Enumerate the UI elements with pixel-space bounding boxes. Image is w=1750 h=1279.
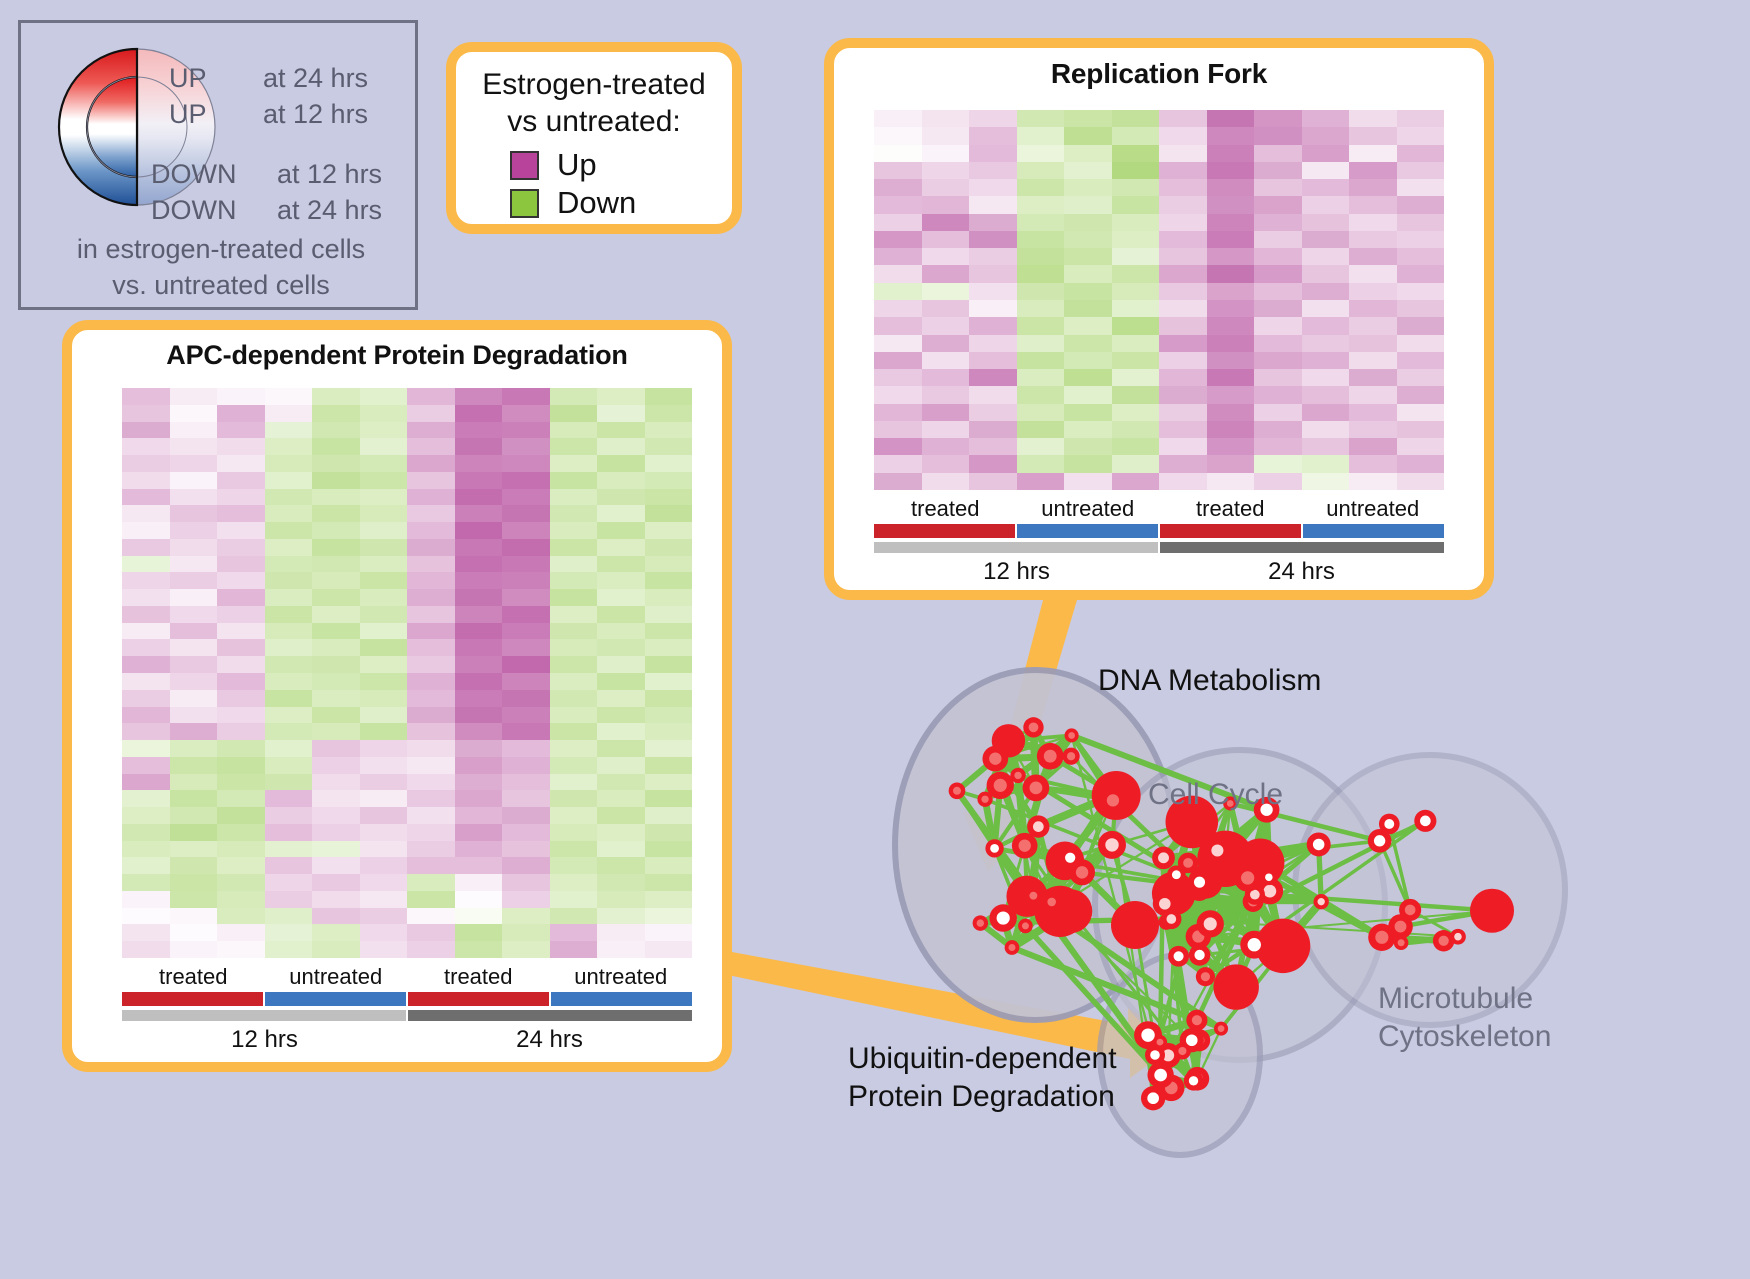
network-node[interactable] <box>989 904 1016 931</box>
time-bar-segment <box>408 1010 692 1021</box>
replication-fork-title: Replication Fork <box>834 58 1484 90</box>
heatmap-cell <box>312 673 360 690</box>
heatmap-cell <box>502 472 550 489</box>
heatmap-cell <box>1017 110 1065 127</box>
heatmap-cell <box>265 707 313 724</box>
heatmap-cell <box>502 623 550 640</box>
heatmap-cell <box>1302 455 1350 472</box>
heatmap-cell <box>645 891 693 908</box>
heatmap-cell <box>645 489 693 506</box>
network-node[interactable] <box>1213 964 1258 1009</box>
heatmap-cell <box>1254 231 1302 248</box>
network-node[interactable] <box>973 915 988 930</box>
heatmap-cell <box>874 473 922 490</box>
heatmap-cell <box>122 656 170 673</box>
heatmap-cell <box>550 673 598 690</box>
heatmap-cell <box>502 807 550 824</box>
heatmap-cell <box>969 110 1017 127</box>
heatmap-cell <box>597 623 645 640</box>
heatmap-cell <box>217 556 265 573</box>
replication-fork-time-labels: 12 hrs24 hrs <box>874 558 1444 586</box>
network-node[interactable] <box>1037 743 1064 770</box>
heatmap-cell <box>874 110 922 127</box>
heatmap-cell <box>170 740 218 757</box>
heatmap-cell <box>122 924 170 941</box>
heatmap-cell <box>1302 386 1350 403</box>
network-node[interactable] <box>1196 967 1215 986</box>
heatmap-cell <box>1302 369 1350 386</box>
network-node[interactable] <box>1005 940 1020 955</box>
heatmap-cell <box>122 422 170 439</box>
heatmap-cell <box>1397 386 1445 403</box>
heatmap-cell <box>969 162 1017 179</box>
time-bar-segment <box>874 542 1160 553</box>
heatmap-cell <box>645 707 693 724</box>
heatmap-cell <box>217 438 265 455</box>
heatmap-cell <box>360 908 408 925</box>
network-node[interactable] <box>1023 775 1050 802</box>
apc-degradation-heatmap <box>122 388 692 958</box>
heatmap-cell <box>1302 473 1350 490</box>
heatmap-cell <box>1349 369 1397 386</box>
heatmap-cell <box>455 891 503 908</box>
heatmap-cell <box>1397 265 1445 282</box>
heatmap-cell <box>1254 317 1302 334</box>
heatmap-cell <box>312 522 360 539</box>
heatmap-cell <box>455 472 503 489</box>
heatmap-cell <box>407 556 455 573</box>
heatmap-cell <box>170 405 218 422</box>
network-node[interactable] <box>1027 815 1049 837</box>
heatmap-cell <box>1159 214 1207 231</box>
heatmap-cell <box>922 110 970 127</box>
heatmap-cell <box>1064 438 1112 455</box>
heatmap-cell <box>1207 110 1255 127</box>
heatmap-cell <box>597 639 645 656</box>
heatmap-cell <box>1254 196 1302 213</box>
heatmap-cell <box>1397 438 1445 455</box>
heatmap-cell <box>1302 438 1350 455</box>
colorwheel-row-label-0: UP <box>169 63 207 94</box>
heatmap-cell <box>407 572 455 589</box>
heatmap-cell <box>217 472 265 489</box>
heatmap-cell <box>407 489 455 506</box>
heatmap-cell <box>597 589 645 606</box>
network-node[interactable] <box>1043 893 1061 911</box>
heatmap-cell <box>550 656 598 673</box>
network-node[interactable] <box>1470 889 1514 933</box>
heatmap-cell <box>217 572 265 589</box>
heatmap-cell <box>597 757 645 774</box>
heatmap-cell <box>502 673 550 690</box>
heatmap-cell <box>407 757 455 774</box>
network-node[interactable] <box>1307 832 1331 856</box>
heatmap-cell <box>122 941 170 958</box>
time-label: 24 hrs <box>407 1026 692 1054</box>
network-node[interactable] <box>1240 931 1268 959</box>
network-node[interactable] <box>1062 748 1079 765</box>
heatmap-cell <box>407 405 455 422</box>
heatmap-cell <box>1112 300 1160 317</box>
heatmap-cell <box>312 489 360 506</box>
heatmap-cell <box>1159 265 1207 282</box>
network-node[interactable] <box>1261 869 1277 885</box>
network-node[interactable] <box>1178 853 1198 873</box>
heatmap-cell <box>597 472 645 489</box>
heatmap-cell <box>645 656 693 673</box>
heatmap-cell <box>265 388 313 405</box>
heatmap-cell <box>217 589 265 606</box>
updown-legend-panel: Estrogen-treated vs untreated: Up Down <box>446 42 742 234</box>
heatmap-cell <box>360 522 408 539</box>
heatmap-cell <box>407 707 455 724</box>
heatmap-cell <box>969 335 1017 352</box>
heatmap-cell <box>217 405 265 422</box>
heatmap-cell <box>265 690 313 707</box>
heatmap-cell <box>645 539 693 556</box>
heatmap-cell <box>170 874 218 891</box>
heatmap-cell <box>170 824 218 841</box>
heatmap-cell <box>969 352 1017 369</box>
heatmap-cell <box>217 455 265 472</box>
replication-fork-heatmap <box>874 110 1444 490</box>
network-node[interactable] <box>1010 768 1025 783</box>
network-node[interactable] <box>1065 728 1079 742</box>
heatmap-cell <box>455 422 503 439</box>
heatmap-cell <box>874 335 922 352</box>
heatmap-cell <box>1302 248 1350 265</box>
heatmap-cell <box>360 807 408 824</box>
network-node[interactable] <box>1034 886 1085 937</box>
heatmap-cell <box>922 162 970 179</box>
heatmap-cell <box>1254 110 1302 127</box>
heatmap-cell <box>1112 145 1160 162</box>
heatmap-cell <box>1254 145 1302 162</box>
heatmap-cell <box>312 422 360 439</box>
heatmap-cell <box>1159 438 1207 455</box>
time-label: 24 hrs <box>1159 558 1444 586</box>
heatmap-cell <box>360 824 408 841</box>
network-node[interactable] <box>1314 894 1329 909</box>
heatmap-cell <box>1349 335 1397 352</box>
heatmap-cell <box>1159 335 1207 352</box>
heatmap-cell <box>1302 352 1350 369</box>
network-node[interactable] <box>1394 935 1409 950</box>
heatmap-cell <box>360 774 408 791</box>
heatmap-cell <box>1349 248 1397 265</box>
network-node[interactable] <box>1152 846 1175 869</box>
heatmap-cell <box>360 505 408 522</box>
network-node[interactable] <box>1379 814 1400 835</box>
heatmap-cell <box>1397 455 1445 472</box>
replication-fork-condition-bar <box>874 524 1444 538</box>
network-node[interactable] <box>1188 871 1211 894</box>
heatmap-cell <box>170 924 218 941</box>
heatmap-cell <box>455 539 503 556</box>
heatmap-cell <box>550 841 598 858</box>
network-node[interactable] <box>1161 909 1181 929</box>
heatmap-cell <box>597 489 645 506</box>
network-node[interactable] <box>1186 1010 1207 1031</box>
heatmap-cell <box>455 690 503 707</box>
replication-fork-panel: Replication Fork treateduntreatedtreated… <box>824 38 1494 600</box>
heatmap-cell <box>265 522 313 539</box>
heatmap-cell <box>170 841 218 858</box>
updown-legend-title-line1: Estrogen-treated <box>456 66 732 103</box>
heatmap-cell <box>455 874 503 891</box>
heatmap-cell <box>502 824 550 841</box>
network-node[interactable] <box>1111 901 1159 949</box>
heatmap-cell <box>922 386 970 403</box>
network-node[interactable] <box>1147 1062 1173 1088</box>
heatmap-cell <box>550 757 598 774</box>
heatmap-cell <box>455 941 503 958</box>
network-node[interactable] <box>1205 838 1230 863</box>
heatmap-cell <box>1254 386 1302 403</box>
heatmap-cell <box>550 455 598 472</box>
heatmap-cell <box>1017 127 1065 144</box>
heatmap-cell <box>1207 473 1255 490</box>
heatmap-cell <box>170 489 218 506</box>
network-node[interactable] <box>1100 788 1126 814</box>
heatmap-cell <box>645 589 693 606</box>
heatmap-cell <box>502 388 550 405</box>
heatmap-cell <box>645 790 693 807</box>
heatmap-cell <box>217 790 265 807</box>
heatmap-cell <box>502 539 550 556</box>
heatmap-cell <box>360 924 408 941</box>
heatmap-cell <box>1159 196 1207 213</box>
heatmap-cell <box>597 707 645 724</box>
heatmap-cell <box>1254 283 1302 300</box>
heatmap-cell <box>360 790 408 807</box>
heatmap-cell <box>645 388 693 405</box>
heatmap-cell <box>1207 369 1255 386</box>
heatmap-cell <box>969 248 1017 265</box>
heatmap-cell <box>645 690 693 707</box>
heatmap-cell <box>407 438 455 455</box>
heatmap-cell <box>874 231 922 248</box>
network-node[interactable] <box>1414 810 1436 832</box>
heatmap-cell <box>1302 127 1350 144</box>
network-node[interactable] <box>1145 1045 1165 1065</box>
heatmap-cell <box>550 857 598 874</box>
heatmap-cell <box>265 539 313 556</box>
heatmap-cell <box>1064 265 1112 282</box>
network-node[interactable] <box>1168 946 1189 967</box>
heatmap-cell <box>597 388 645 405</box>
heatmap-cell <box>1254 404 1302 421</box>
heatmap-cell <box>1112 265 1160 282</box>
condition-bar-segment <box>1160 524 1303 538</box>
heatmap-cell <box>122 472 170 489</box>
heatmap-cell <box>969 386 1017 403</box>
heatmap-cell <box>360 388 408 405</box>
heatmap-cell <box>265 891 313 908</box>
heatmap-cell <box>1207 335 1255 352</box>
heatmap-cell <box>1064 179 1112 196</box>
heatmap-cell <box>407 539 455 556</box>
heatmap-cell <box>550 723 598 740</box>
heatmap-cell <box>312 774 360 791</box>
network-node[interactable] <box>985 839 1003 857</box>
condition-label: untreated <box>1302 496 1445 522</box>
heatmap-cell <box>597 422 645 439</box>
heatmap-cell <box>969 283 1017 300</box>
heatmap-cell <box>1397 162 1445 179</box>
heatmap-cell <box>1017 438 1065 455</box>
heatmap-cell <box>1017 369 1065 386</box>
heatmap-cell <box>217 857 265 874</box>
heatmap-cell <box>1017 421 1065 438</box>
network-node[interactable] <box>1433 930 1454 951</box>
heatmap-cell <box>1017 404 1065 421</box>
heatmap-cell <box>1064 386 1112 403</box>
heatmap-cell <box>312 874 360 891</box>
condition-bar-segment <box>265 992 408 1006</box>
heatmap-cell <box>1207 162 1255 179</box>
apc-degradation-condition-labels: treateduntreatedtreateduntreated <box>122 964 692 990</box>
network-node[interactable] <box>1197 910 1224 937</box>
heatmap-cell <box>122 690 170 707</box>
heatmap-cell <box>597 455 645 472</box>
heatmap-cell <box>265 639 313 656</box>
heatmap-cell <box>922 196 970 213</box>
heatmap-cell <box>502 690 550 707</box>
heatmap-cell <box>597 522 645 539</box>
heatmap-cell <box>969 369 1017 386</box>
network-node[interactable] <box>1368 924 1395 951</box>
heatmap-cell <box>502 639 550 656</box>
heatmap-cell <box>217 539 265 556</box>
network-node[interactable] <box>987 772 1014 799</box>
condition-label: untreated <box>1017 496 1160 522</box>
heatmap-cell <box>1207 214 1255 231</box>
heatmap-cell <box>1207 404 1255 421</box>
heatmap-cell <box>170 774 218 791</box>
heatmap-cell <box>407 841 455 858</box>
heatmap-cell <box>122 807 170 824</box>
heatmap-cell <box>922 214 970 231</box>
heatmap-cell <box>122 489 170 506</box>
network-node[interactable] <box>982 746 1008 772</box>
network-node[interactable] <box>1399 899 1421 921</box>
network-node[interactable] <box>1023 717 1043 737</box>
heatmap-cell <box>455 740 503 757</box>
network-node[interactable] <box>1098 831 1126 859</box>
heatmap-cell <box>597 774 645 791</box>
heatmap-cell <box>170 707 218 724</box>
heatmap-cell <box>1254 248 1302 265</box>
heatmap-cell <box>550 707 598 724</box>
heatmap-cell <box>360 891 408 908</box>
heatmap-cell <box>360 841 408 858</box>
heatmap-cell <box>1254 335 1302 352</box>
network-node[interactable] <box>1059 847 1080 868</box>
heatmap-cell <box>502 924 550 941</box>
heatmap-cell <box>217 422 265 439</box>
heatmap-cell <box>1349 455 1397 472</box>
heatmap-cell <box>170 539 218 556</box>
heatmap-cell <box>1207 196 1255 213</box>
network-node[interactable] <box>1184 1071 1204 1091</box>
heatmap-cell <box>1159 386 1207 403</box>
heatmap-cell <box>1017 214 1065 231</box>
heatmap-cell <box>265 556 313 573</box>
heatmap-cell <box>550 623 598 640</box>
heatmap-cell <box>455 522 503 539</box>
heatmap-cell <box>312 941 360 958</box>
heatmap-cell <box>1017 265 1065 282</box>
heatmap-cell <box>1302 196 1350 213</box>
heatmap-cell <box>407 522 455 539</box>
heatmap-cell <box>170 455 218 472</box>
heatmap-cell <box>312 924 360 941</box>
heatmap-cell <box>312 438 360 455</box>
network-node[interactable] <box>949 782 966 799</box>
heatmap-cell <box>645 740 693 757</box>
heatmap-cell <box>217 824 265 841</box>
heatmap-cell <box>969 421 1017 438</box>
heatmap-cell <box>502 723 550 740</box>
heatmap-cell <box>922 438 970 455</box>
network-node[interactable] <box>1018 919 1033 934</box>
network-node[interactable] <box>1025 887 1041 903</box>
heatmap-cell <box>597 556 645 573</box>
heatmap-cell <box>312 455 360 472</box>
heatmap-cell <box>1017 179 1065 196</box>
heatmap-cell <box>1397 300 1445 317</box>
heatmap-cell <box>360 606 408 623</box>
heatmap-cell <box>1302 317 1350 334</box>
heatmap-cell <box>360 572 408 589</box>
heatmap-cell <box>1017 248 1065 265</box>
heatmap-cell <box>407 589 455 606</box>
heatmap-cell <box>1254 421 1302 438</box>
heatmap-cell <box>455 673 503 690</box>
cluster-label-dna-metabolism: DNA Metabolism <box>1098 664 1321 698</box>
heatmap-cell <box>1064 421 1112 438</box>
heatmap-cell <box>1397 404 1445 421</box>
network-node[interactable] <box>1174 1043 1191 1060</box>
heatmap-cell <box>1064 110 1112 127</box>
heatmap-cell <box>455 807 503 824</box>
heatmap-cell <box>874 369 922 386</box>
heatmap-cell <box>1112 386 1160 403</box>
heatmap-cell <box>922 283 970 300</box>
legend-item-down-label: Down <box>557 185 636 221</box>
network-node[interactable] <box>1234 864 1262 892</box>
colorwheel-caption-line1: in estrogen-treated cells <box>21 231 421 267</box>
heatmap-cell <box>1349 438 1397 455</box>
heatmap-cell <box>1017 352 1065 369</box>
heatmap-cell <box>312 589 360 606</box>
heatmap-cell <box>407 790 455 807</box>
heatmap-cell <box>597 740 645 757</box>
heatmap-cell <box>597 857 645 874</box>
heatmap-cell <box>360 857 408 874</box>
heatmap-cell <box>1159 404 1207 421</box>
heatmap-cell <box>1207 145 1255 162</box>
heatmap-cell <box>1349 214 1397 231</box>
heatmap-cell <box>502 489 550 506</box>
heatmap-cell <box>645 857 693 874</box>
network-node[interactable] <box>1214 1022 1228 1036</box>
heatmap-cell <box>407 623 455 640</box>
heatmap-cell <box>1349 145 1397 162</box>
heatmap-cell <box>407 606 455 623</box>
condition-bar-segment <box>551 992 692 1006</box>
